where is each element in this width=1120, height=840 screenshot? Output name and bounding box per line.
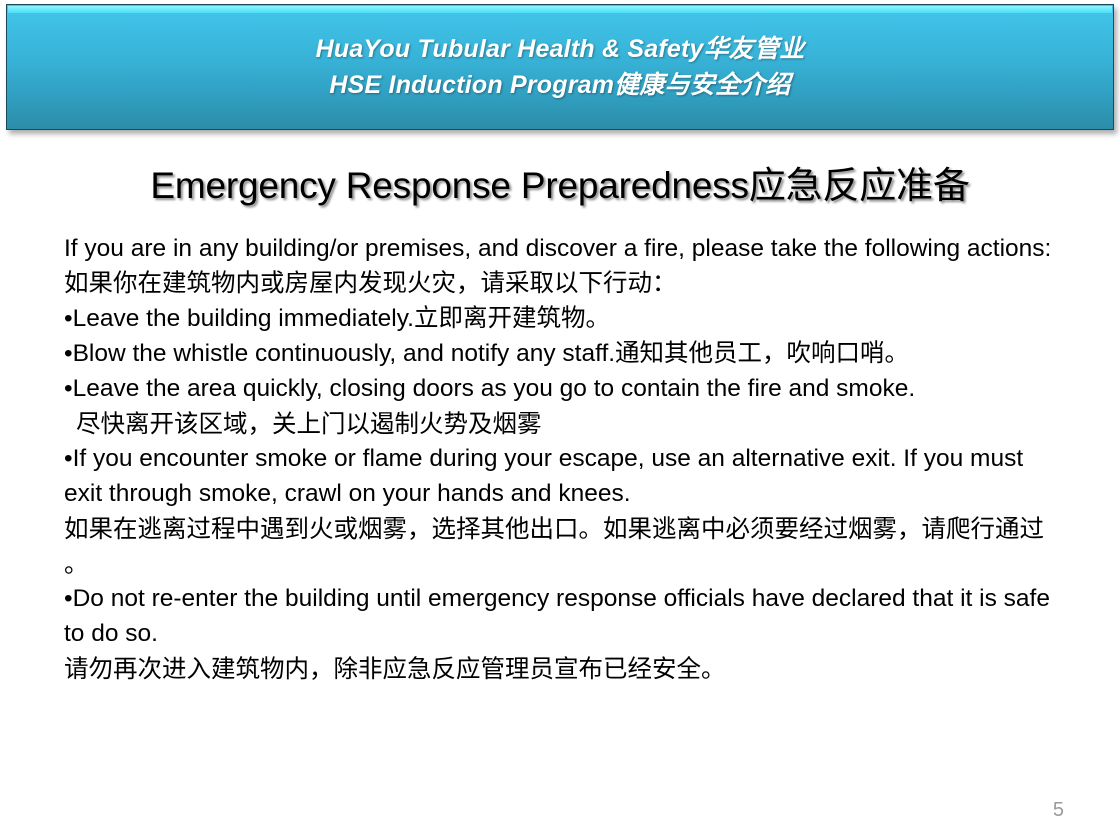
banner-surface: HuaYou Tubular Health & Safety华友管业 HSE I… — [6, 4, 1114, 130]
bullet-item-4-translation: 如果在逃离过程中遇到火或烟雾，选择其他出口。如果逃离中必须要经过烟雾，请爬行通过… — [64, 511, 1064, 581]
banner-gloss-highlight — [8, 6, 1112, 13]
header-banner: HuaYou Tubular Health & Safety华友管业 HSE I… — [6, 4, 1114, 130]
bullet-item-2: •Blow the whistle continuously, and noti… — [64, 336, 1064, 371]
page-title: Emergency Response Preparedness应急反应准备 — [0, 155, 1120, 209]
bullet-item-5-translation: 请勿再次进入建筑物内，除非应急反应管理员宣布已经安全。 — [64, 651, 1064, 686]
bullet-item-3-translation: 尽快离开该区域，关上门以遏制火势及烟雾 — [64, 406, 1064, 441]
intro-paragraph: If you are in any building/or premises, … — [64, 231, 1064, 301]
page-number: 5 — [1053, 799, 1064, 822]
banner-title-line-2: HSE Induction Program健康与安全介绍 — [329, 67, 790, 103]
bullet-item-5: •Do not re-enter the building until emer… — [64, 581, 1064, 651]
bullet-item-4: •If you encounter smoke or flame during … — [64, 441, 1064, 511]
banner-title-line-1: HuaYou Tubular Health & Safety华友管业 — [316, 31, 805, 67]
bullet-item-1: •Leave the building immediately.立即离开建筑物。 — [64, 301, 1064, 336]
bullet-item-3: •Leave the area quickly, closing doors a… — [64, 371, 1064, 406]
slide-body: If you are in any building/or premises, … — [64, 231, 1064, 686]
slide: HuaYou Tubular Health & Safety华友管业 HSE I… — [0, 0, 1120, 840]
